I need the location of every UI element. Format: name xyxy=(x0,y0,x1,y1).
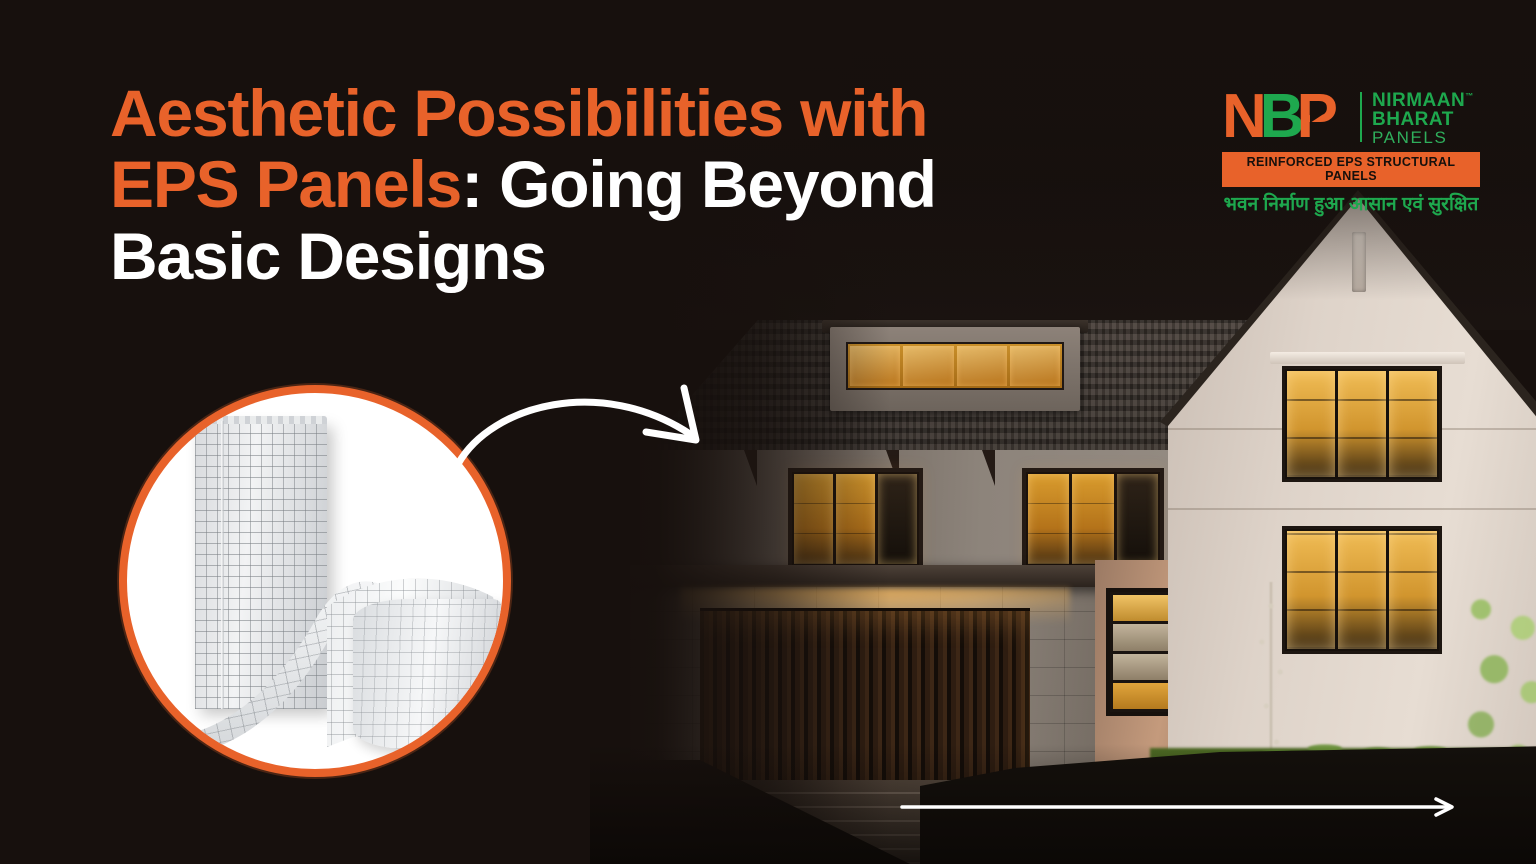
gable-window-upper xyxy=(1282,366,1442,482)
logo-wordmark: NIRMAAN™ BHARAT PANELS xyxy=(1372,89,1474,146)
wordmark-line-2: BHARAT xyxy=(1372,110,1474,129)
title-line-1: Aesthetic Possibilities with xyxy=(110,76,927,150)
nbp-monogram-icon: NBP xyxy=(1222,88,1350,146)
title-line-2-rest: : Going Beyond xyxy=(461,147,936,221)
logo-letter-n: N xyxy=(1222,82,1264,151)
logo-letter-b: B xyxy=(1260,82,1302,151)
play-triangle-icon xyxy=(1310,103,1325,123)
logo-hindi-tagline: भवन निर्माण हुआ आसान एवं सुरक्षित xyxy=(1222,190,1480,216)
logo-divider xyxy=(1360,92,1362,142)
curved-arrow-icon xyxy=(452,368,742,478)
title-line-2-highlight: EPS Panels xyxy=(110,147,461,221)
window-lintel xyxy=(1270,352,1465,364)
title-line-3: Basic Designs xyxy=(110,219,546,293)
gable-window-lower xyxy=(1282,526,1442,654)
logo-upper-row: NBP NIRMAAN™ BHARAT PANELS xyxy=(1222,86,1480,148)
trademark-icon: ™ xyxy=(1465,91,1474,100)
logo-banner-text: REINFORCED EPS STRUCTURAL PANELS xyxy=(1222,152,1480,187)
horizontal-arrow-icon xyxy=(900,796,1460,818)
wordmark-line-3: PANELS xyxy=(1372,129,1474,146)
facade-joint xyxy=(1168,508,1536,510)
wordmark-line-1: NIRMAAN™ xyxy=(1372,91,1474,110)
cylindrical-eps-panel-image xyxy=(353,599,501,749)
brand-logo[interactable]: NBP NIRMAAN™ BHARAT PANELS REINFORCED EP… xyxy=(1222,86,1480,216)
upper-window-right xyxy=(1022,468,1164,570)
promo-banner: Aesthetic Possibilities with EPS Panels:… xyxy=(0,0,1536,864)
page-title: Aesthetic Possibilities with EPS Panels:… xyxy=(110,78,1190,292)
